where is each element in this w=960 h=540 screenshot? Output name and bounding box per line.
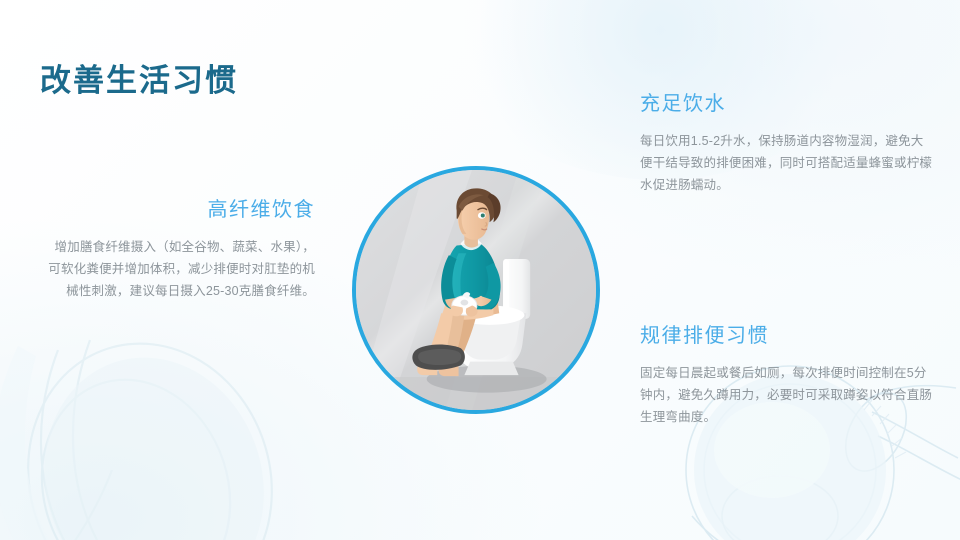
illustration-circle-person-on-toilet <box>352 166 600 414</box>
block-heading-regular-bowel-habit: 规律排便习惯 <box>640 322 935 350</box>
block-heading-adequate-water: 充足饮水 <box>640 90 935 118</box>
person-sitting-on-toilet-icon <box>356 170 596 410</box>
slide-root: 改善生活习惯 高纤维饮食 增加膳食纤维摄入（如全谷物、蔬菜、水果），可软化粪便并… <box>0 0 960 540</box>
block-body-high-fiber-diet: 增加膳食纤维摄入（如全谷物、蔬菜、水果），可软化粪便并增加体积，减少排便时对肛垫… <box>45 236 315 302</box>
block-body-regular-bowel-habit: 固定每日晨起或餐后如厕，每次排便时间控制在5分钟内，避免久蹲用力，必要时可采取蹲… <box>640 362 935 428</box>
content-block-regular-bowel-habit: 规律排便习惯 固定每日晨起或餐后如厕，每次排便时间控制在5分钟内，避免久蹲用力，… <box>640 322 935 428</box>
block-heading-high-fiber-diet: 高纤维饮食 <box>45 196 315 224</box>
content-block-high-fiber-diet: 高纤维饮食 增加膳食纤维摄入（如全谷物、蔬菜、水果），可软化粪便并增加体积，减少… <box>45 196 315 302</box>
background-swirl-left-icon <box>0 330 370 540</box>
page-title: 改善生活习惯 <box>40 61 238 101</box>
block-body-adequate-water: 每日饮用1.5-2升水，保持肠道内容物湿润，避免大便干结导致的排便困难，同时可搭… <box>640 130 935 196</box>
content-block-adequate-water: 充足饮水 每日饮用1.5-2升水，保持肠道内容物湿润，避免大便干结导致的排便困难… <box>640 90 935 196</box>
